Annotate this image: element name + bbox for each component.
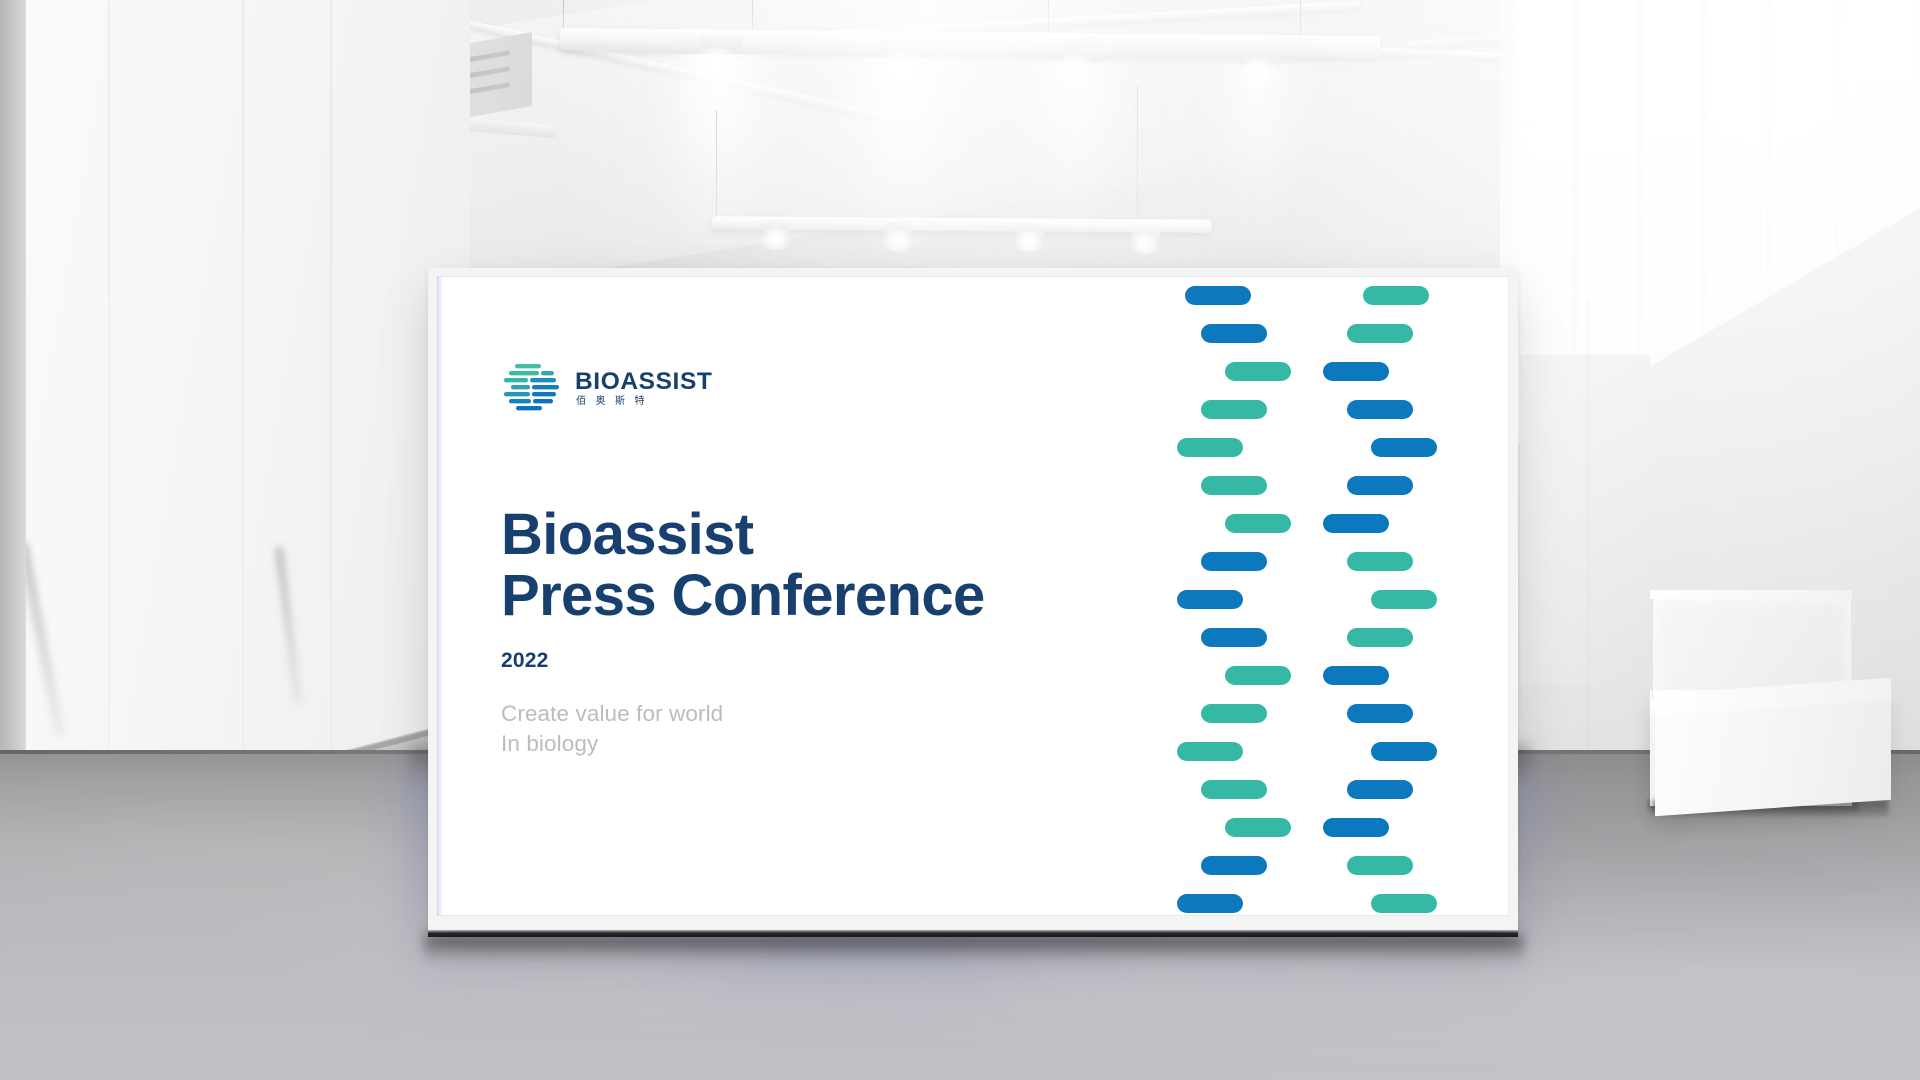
bioassist-bars-logomark	[501, 362, 561, 416]
window-mullion-5	[1834, 0, 1841, 300]
lamp-spark-2	[872, 52, 930, 86]
lamp-spark-5	[756, 228, 796, 250]
right-wall-nook	[1520, 355, 1650, 685]
track-wire-4	[1300, 0, 1301, 40]
track-wire-5	[716, 110, 717, 220]
dna-band	[1323, 362, 1389, 381]
dna-band	[1347, 780, 1413, 799]
left-wall-seam-1	[108, 0, 110, 800]
dna-band	[1177, 438, 1243, 457]
lamp-spark-4	[1232, 58, 1282, 88]
dna-band	[1371, 742, 1437, 761]
dna-band	[1323, 818, 1389, 837]
presentation-slide[interactable]: BIOASSIST 佰奥斯特 Bioassist Press Conferenc…	[437, 276, 1509, 916]
window-pane-5	[1774, 0, 1832, 310]
lamp-spark-3	[1050, 55, 1100, 85]
dna-band	[1201, 476, 1267, 495]
lamp-spark-1	[688, 48, 746, 82]
dna-band	[1323, 666, 1389, 685]
dna-band	[1225, 514, 1291, 533]
dna-band	[1177, 742, 1243, 761]
dna-band	[1201, 324, 1267, 343]
dna-band	[1225, 362, 1291, 381]
dna-band	[1347, 704, 1413, 723]
slide-year: 2022	[501, 649, 549, 673]
dna-band	[1347, 856, 1413, 875]
dna-band	[1225, 666, 1291, 685]
dna-band	[1177, 590, 1243, 609]
dna-band	[1363, 286, 1429, 305]
brand-name-chinese: 佰奥斯特	[575, 396, 712, 408]
dna-band	[1185, 286, 1251, 305]
lamp-spark-7	[1010, 232, 1048, 252]
lamp-spark-8	[1126, 234, 1164, 254]
vitrine-far-cap	[1650, 590, 1852, 599]
right-wall-corner-edge	[1587, 300, 1590, 770]
dna-band	[1177, 894, 1243, 913]
presentation-board[interactable]: BIOASSIST 佰奥斯特 Bioassist Press Conferenc…	[428, 268, 1518, 930]
dna-band	[1201, 704, 1267, 723]
dna-band	[1347, 476, 1413, 495]
dna-band	[1347, 552, 1413, 571]
slide-tagline: Create value for world In biology	[501, 699, 723, 759]
dna-band	[1371, 590, 1437, 609]
brand-name: BIOASSIST	[575, 370, 712, 395]
dna-band	[1201, 628, 1267, 647]
dna-band	[1201, 400, 1267, 419]
slide-title: Bioassist Press Conference	[501, 504, 985, 627]
track-wire-6	[1137, 86, 1138, 220]
dna-band	[1371, 894, 1437, 913]
dna-band	[1347, 324, 1413, 343]
dna-band	[1225, 818, 1291, 837]
dna-band	[1371, 438, 1437, 457]
dna-band	[1347, 400, 1413, 419]
room-scene: BIOASSIST 佰奥斯特 Bioassist Press Conferenc…	[0, 0, 1920, 1080]
dna-band	[1201, 552, 1267, 571]
board-base-shadow	[424, 936, 1524, 964]
brand-logo[interactable]: BIOASSIST 佰奥斯特	[501, 362, 712, 416]
dna-band	[1347, 628, 1413, 647]
dna-band	[1201, 780, 1267, 799]
left-wall-seam-2	[242, 0, 244, 780]
lamp-spark-6	[878, 230, 918, 252]
window-pane-6	[1842, 0, 1912, 252]
brand-logo-text: BIOASSIST 佰奥斯特	[575, 370, 712, 408]
dna-band	[1323, 514, 1389, 533]
dna-band	[1201, 856, 1267, 875]
left-wall-seam-3	[330, 0, 332, 760]
dna-ladder-graphic	[1153, 280, 1453, 916]
